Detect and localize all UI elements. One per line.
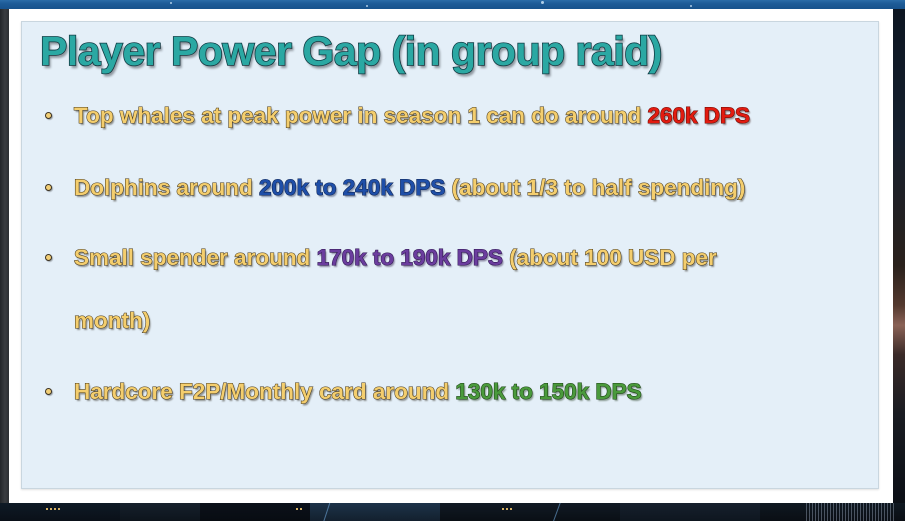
bg-panel — [310, 503, 440, 521]
bg-light-dots — [502, 508, 512, 510]
bullet-marker — [22, 168, 74, 191]
bullet-dot-icon — [45, 112, 52, 119]
bullet-3-segment-3: (about 100 USD per — [503, 245, 717, 270]
bullet-3-segment-1: Small spender around — [74, 245, 317, 270]
highlight-speck — [366, 5, 368, 7]
bullet-item-3: Small spender around 170k to 190k DPS (a… — [22, 238, 878, 274]
bullet-4-segment-2: 130k to 150k DPS — [455, 379, 641, 404]
highlight-speck — [170, 2, 172, 4]
bullet-dot-icon — [45, 388, 52, 395]
bottom-background-strip — [0, 503, 905, 521]
bullet-4-segment-1: Hardcore F2P/Monthly card around — [74, 379, 455, 404]
bullet-dot-icon — [45, 184, 52, 191]
bullet-marker — [22, 238, 74, 261]
bullet-marker — [22, 96, 74, 119]
highlight-speck — [541, 1, 544, 4]
bg-panel — [440, 503, 620, 521]
bg-panel — [0, 503, 120, 521]
bg-light-dots — [296, 508, 302, 510]
bullet-text-4: Hardcore F2P/Monthly card around 130k to… — [74, 372, 878, 405]
bullet-list: Top whales at peak power in season 1 can… — [22, 96, 878, 408]
bullet-3-continuation-text: month) — [74, 274, 150, 334]
bullet-item-4: Hardcore F2P/Monthly card around 130k to… — [22, 372, 878, 408]
top-chrome-bar — [0, 0, 905, 9]
bullet-item-3-continuation: month) — [22, 274, 878, 334]
bullet-text-2: Dolphins around 200k to 240k DPS (about … — [74, 168, 878, 201]
bullet-2-segment-1: Dolphins around — [74, 175, 259, 200]
highlight-speck — [690, 5, 692, 7]
slide-title: Player Power Gap (in group raid) — [40, 28, 662, 75]
screenshot-root: Player Power Gap (in group raid) Top wha… — [0, 0, 905, 521]
bullet-text-3: Small spender around 170k to 190k DPS (a… — [74, 238, 878, 271]
bullet-2-segment-3: (about 1/3 to half spending) — [445, 175, 745, 200]
presentation-slide: Player Power Gap (in group raid) Top wha… — [21, 21, 879, 489]
left-gutter — [0, 9, 9, 503]
bullet-2-segment-2: 200k to 240k DPS — [259, 175, 445, 200]
bullet-item-1: Top whales at peak power in season 1 can… — [22, 96, 878, 132]
bullet-dot-icon — [45, 254, 52, 261]
bullet-item-2: Dolphins around 200k to 240k DPS (about … — [22, 168, 878, 204]
bullet-3-segment-2: 170k to 190k DPS — [317, 245, 503, 270]
bullet-marker-placeholder — [22, 274, 74, 334]
slide-page: Player Power Gap (in group raid) Top wha… — [9, 9, 893, 503]
bg-panel — [620, 503, 760, 521]
bg-vertical-bars — [806, 503, 894, 521]
bg-panel — [200, 503, 310, 521]
bg-panel — [120, 503, 200, 521]
bullet-1-segment-2: 260k DPS — [647, 103, 750, 128]
right-gutter — [893, 9, 905, 503]
bullet-1-segment-1: Top whales at peak power in season 1 can… — [74, 103, 647, 128]
bullet-text-1: Top whales at peak power in season 1 can… — [74, 96, 878, 129]
bg-light-dots — [46, 508, 60, 510]
bullet-marker — [22, 372, 74, 395]
